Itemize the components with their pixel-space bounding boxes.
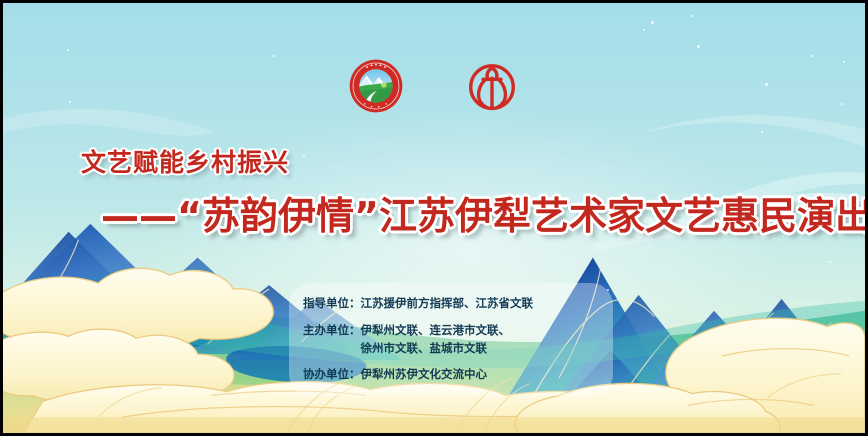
- credit-label: 协办单位：: [303, 366, 361, 384]
- credit-value-line: 伊犁州文联、连云港市文联、: [361, 322, 604, 340]
- sparkle-dot: [199, 257, 201, 259]
- credit-value-line: 江苏援伊前方指挥部、江苏省文联: [361, 295, 604, 313]
- sparkle-dot: [651, 21, 654, 24]
- sparkle-dot: [67, 49, 69, 51]
- poster-canvas: 文艺赋能乡村振兴 ——“苏韵伊情”江苏伊犁艺术家文艺惠民演出 指导单位： 江苏援…: [0, 0, 868, 436]
- federation-arch-logo-icon: [464, 58, 520, 114]
- poster-subtitle: 文艺赋能乡村振兴: [81, 143, 865, 179]
- credit-row: 主办单位： 伊犁州文联、连云港市文联、 徐州市文联、盐城市文联: [303, 322, 603, 358]
- sparkle-dot: [691, 15, 693, 17]
- sparkle-dot: [273, 55, 275, 57]
- credit-value-line: 徐州市文联、盐城市文联: [361, 340, 604, 358]
- sparkle-dot: [811, 55, 813, 57]
- poster-main-title: ——“苏韵伊情”江苏伊犁艺术家文艺惠民演出: [101, 185, 865, 240]
- credits-panel: 指导单位： 江苏援伊前方指挥部、江苏省文联 主办单位： 伊犁州文联、连云港市文联…: [289, 283, 613, 396]
- title-block: 文艺赋能乡村振兴 ——“苏韵伊情”江苏伊犁艺术家文艺惠民演出: [3, 143, 865, 240]
- yili-state-emblem-icon: [348, 58, 404, 114]
- credit-label: 指导单位：: [303, 295, 361, 313]
- credit-row: 协办单位： 伊犁州苏伊文化交流中心: [303, 366, 603, 384]
- sparkle-dot: [643, 29, 645, 31]
- sparkle-dot: [761, 131, 763, 133]
- credit-label: 主办单位：: [303, 322, 361, 340]
- credit-values: 伊犁州苏伊文化交流中心: [361, 366, 604, 384]
- sparkle-dot: [399, 267, 401, 269]
- sparkle-dot: [829, 261, 831, 263]
- sparkle-dot: [697, 45, 700, 48]
- credit-value-line: 伊犁州苏伊文化交流中心: [361, 366, 604, 384]
- credit-row: 指导单位： 江苏援伊前方指挥部、江苏省文联: [303, 295, 603, 313]
- logo-row: [3, 58, 865, 114]
- credit-values: 伊犁州文联、连云港市文联、 徐州市文联、盐城市文联: [361, 322, 604, 358]
- credit-values: 江苏援伊前方指挥部、江苏省文联: [361, 295, 604, 313]
